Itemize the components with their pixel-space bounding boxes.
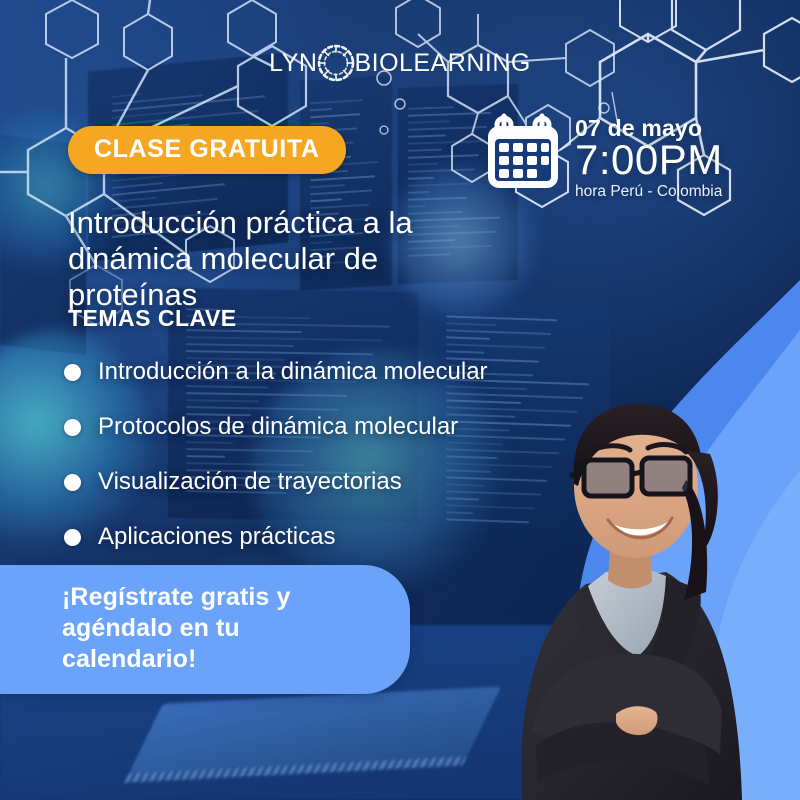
list-item: Protocolos de dinámica molecular: [64, 400, 584, 455]
topic-label: Introducción a la dinámica molecular: [98, 359, 488, 385]
topics-list: Introducción a la dinámica molecular Pro…: [64, 345, 584, 565]
promo-poster: LYN BIOLEARNING CLASE GRATUITA Introducc…: [0, 0, 800, 800]
brand-name-suffix: BIOLEARNING: [354, 49, 530, 78]
topics-heading: TEMAS CLAVE: [68, 305, 237, 332]
event-timezone: hora Perú - Colombia: [575, 183, 723, 200]
brand-name-prefix: LYN: [269, 49, 317, 78]
list-item: Visualización de trayectorias: [64, 455, 584, 510]
calendar-icon: [484, 112, 562, 192]
page-title: Introducción práctica a la dinámica mole…: [68, 205, 488, 314]
topic-label: Protocolos de dinámica molecular: [98, 414, 458, 440]
cta-line-1: ¡Regístrate gratis y: [62, 582, 370, 613]
topic-label: Visualización de trayectorias: [98, 469, 402, 495]
list-item: Aplicaciones prácticas: [64, 510, 584, 565]
bullet-icon: [64, 419, 81, 436]
cta-line-2: agéndalo en tu calendario!: [62, 613, 370, 675]
bullet-icon: [64, 474, 81, 491]
bullet-icon: [64, 529, 81, 546]
cta-banner[interactable]: ¡Regístrate gratis y agéndalo en tu cale…: [0, 565, 410, 694]
free-class-badge: CLASE GRATUITA: [68, 126, 346, 174]
list-item: Introducción a la dinámica molecular: [64, 345, 584, 400]
brand-logo: LYN BIOLEARNING: [0, 40, 800, 86]
topic-label: Aplicaciones prácticas: [98, 524, 335, 550]
dna-circle-icon: [313, 40, 359, 86]
bullet-icon: [64, 364, 81, 381]
event-time: 7:00PM: [575, 139, 723, 182]
schedule-block: 07 de mayo 7:00PM hora Perú - Colombia: [484, 112, 723, 200]
